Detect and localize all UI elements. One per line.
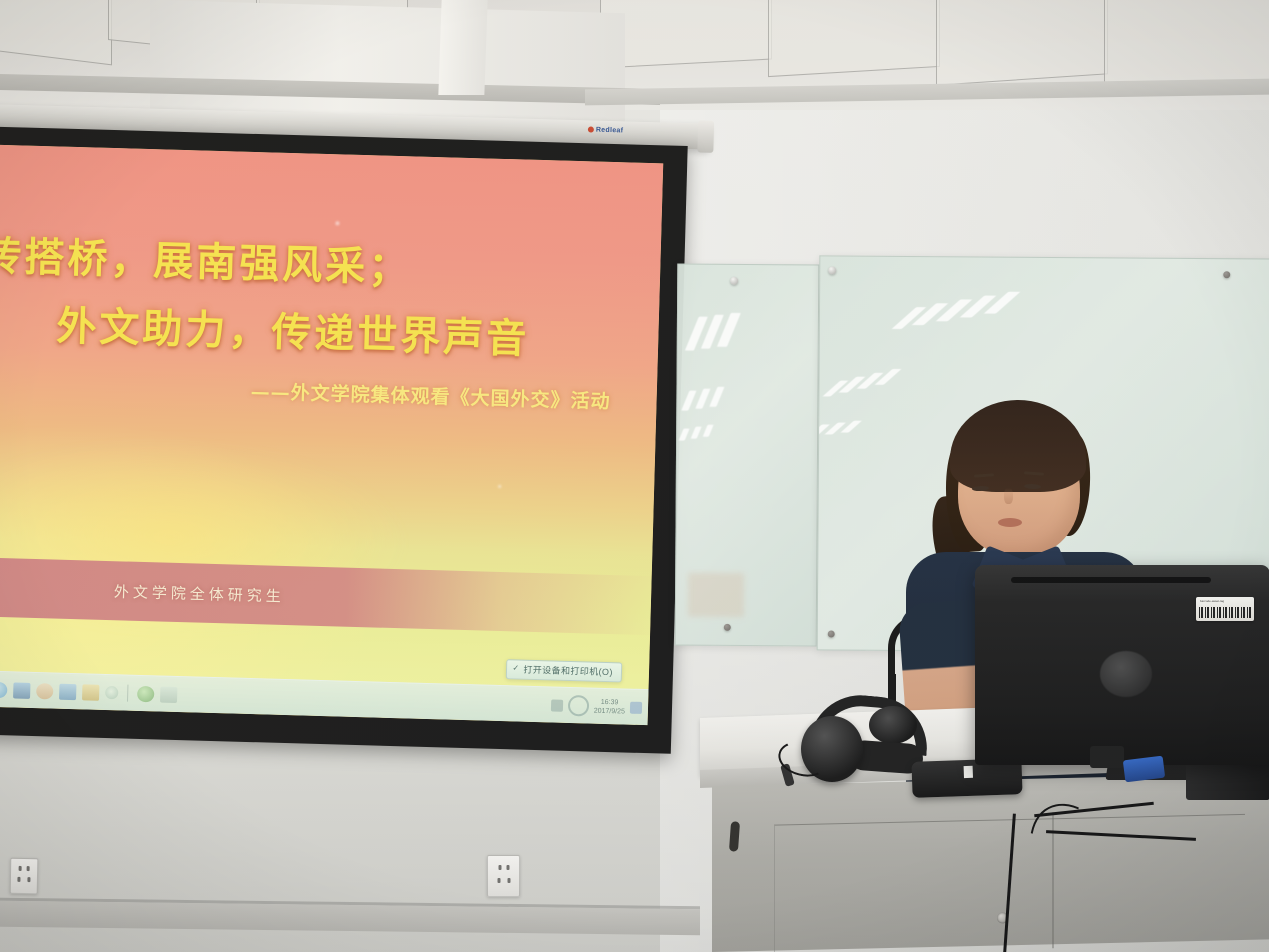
board-mount-screw: [828, 630, 835, 637]
show-desktop-button[interactable]: [630, 701, 642, 713]
hair-top: [950, 400, 1086, 492]
adapter-box: [1090, 746, 1124, 768]
glass-reflection: [691, 427, 702, 439]
lectern-cabinet: [712, 773, 1269, 952]
ceiling-beam: [438, 0, 487, 95]
taskbar-separator: [127, 685, 128, 702]
slide-title-block: 金砖搭桥，展南强风采； 外文助力，传递世界声音: [0, 223, 661, 368]
screen-housing-cap: [697, 120, 714, 152]
classroom-photo: Redleaf 金砖搭桥，展南强风采； 外文助力，传递世界声音 ——外文学院集体…: [0, 0, 1269, 952]
system-tray: 16:39 2017/9/25: [551, 695, 649, 719]
glass-reflection: [679, 429, 690, 441]
board-mount-screw: [1223, 271, 1230, 278]
app-icon[interactable]: [160, 686, 177, 702]
taskbar-clock[interactable]: 16:39 2017/9/25: [594, 697, 626, 716]
file-icon[interactable]: [82, 684, 99, 700]
taskbar-icon-group: [0, 681, 177, 703]
window-icon[interactable]: [59, 683, 76, 699]
wall-power-outlet[interactable]: [487, 855, 520, 897]
board-mount-screw: [724, 624, 731, 631]
folder-explorer-icon[interactable]: [13, 682, 30, 698]
monitor-brand-emblem: [1100, 651, 1152, 697]
wall-power-outlet[interactable]: [10, 858, 39, 894]
devices-and-printers-tooltip[interactable]: ✓ 打开设备和打印机(O): [506, 660, 622, 683]
board-mount-screw: [730, 277, 738, 285]
pouch-label: [964, 766, 973, 778]
slide-subtitle: ——外文学院集体观看《大国外交》活动: [0, 369, 657, 415]
screen-brand-logo: Redleaf: [588, 126, 624, 134]
screen-brand-text: Redleaf: [596, 127, 624, 135]
projection-screen-frame: 金砖搭桥，展南强风采； 外文助力，传递世界声音 ——外文学院集体观看《大国外交》…: [0, 126, 688, 754]
tooltip-label: 打开设备和打印机(O): [523, 665, 613, 677]
slide-title-line-2: 外文助力，传递世界声音: [56, 293, 659, 368]
outlet-slots: [17, 877, 30, 882]
headphone-earcup-right: [869, 706, 917, 744]
dust-speck: [498, 485, 501, 488]
cabinet-handle[interactable]: [729, 821, 740, 851]
presentation-slide: 金砖搭桥，展南强风采； 外文助力，传递世界声音 ——外文学院集体观看《大国外交》…: [0, 144, 663, 725]
monitor-asset-label: barcode-asset-tag: [1196, 597, 1254, 621]
outlet-slots: [497, 878, 510, 883]
asset-label-text: barcode-asset-tag: [1200, 599, 1224, 603]
check-icon: ✓: [512, 664, 519, 673]
desktop-monitor[interactable]: barcode-asset-tag: [975, 565, 1269, 765]
slide-band-text: 外文学院全体研究生: [114, 580, 286, 606]
dust-speck: [335, 222, 339, 226]
glass-whiteboard-left: [675, 264, 820, 647]
board-mount-screw: [828, 266, 836, 274]
outlet-slots: [498, 865, 509, 870]
action-center-icon[interactable]: [568, 695, 590, 717]
nose: [1004, 488, 1013, 504]
glass-reflection: [695, 389, 710, 409]
mouth: [998, 518, 1022, 527]
barcode-icon: [1199, 607, 1251, 618]
internet-explorer-icon[interactable]: [0, 681, 7, 697]
monitor-vent: [1011, 577, 1211, 583]
clock-date: 2017/9/25: [594, 706, 625, 716]
search-icon[interactable]: [105, 686, 118, 699]
glass-smudge: [688, 573, 744, 617]
media-player-icon[interactable]: [36, 683, 53, 699]
glass-reflection: [681, 391, 696, 411]
projection-screen-surface: 金砖搭桥，展南强风采； 外文助力，传递世界声音 ——外文学院集体观看《大国外交》…: [0, 144, 663, 725]
glass-reflection: [703, 425, 714, 437]
outlet-slots: [19, 866, 30, 871]
glass-reflection: [709, 387, 724, 407]
tray-icon[interactable]: [551, 699, 563, 711]
app-icon[interactable]: [137, 685, 154, 701]
slide-title-line-1: 金砖搭桥，展南强风采；: [0, 222, 661, 300]
